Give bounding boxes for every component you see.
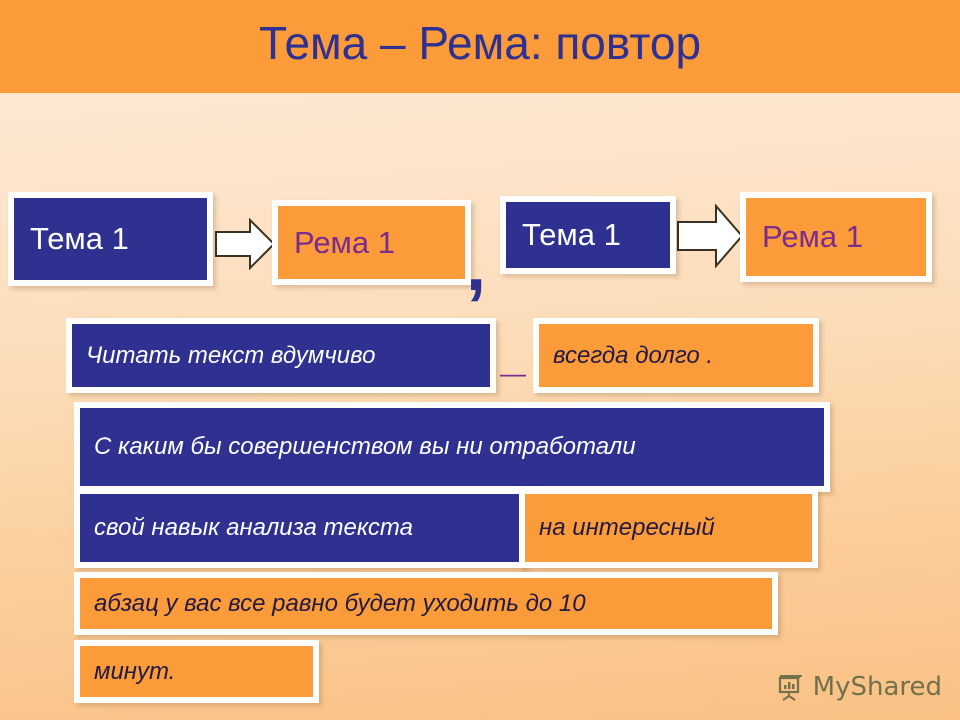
example-box-4-label: свой навык анализа текста: [80, 514, 519, 542]
theme-box-2-label: Тема 1: [506, 217, 670, 253]
example-box-5-label: на интересный: [525, 514, 812, 542]
comma-separator: ,: [466, 230, 486, 302]
header-divider: [0, 93, 960, 97]
rheme-box-1-label: Рема 1: [278, 225, 465, 261]
example-box-2-label: всегда долго .: [539, 342, 813, 370]
right-arrow-icon-1: [214, 218, 276, 270]
example-box-5[interactable]: на интересный: [519, 488, 818, 568]
rheme-box-1[interactable]: Рема 1: [272, 200, 471, 285]
theme-box-1[interactable]: Тема 1: [8, 192, 213, 286]
watermark: MyShared: [776, 672, 942, 702]
em-dash-separator: —: [500, 360, 526, 386]
page-title: Тема – Рема: повтор: [0, 16, 960, 70]
theme-box-2[interactable]: Тема 1: [500, 196, 676, 274]
rheme-box-2[interactable]: Рема 1: [740, 192, 932, 282]
example-box-6-label: абзац у вас все равно будет уходить до 1…: [80, 590, 772, 618]
example-box-1-label: Читать текст вдумчиво: [72, 342, 490, 370]
example-box-1[interactable]: Читать текст вдумчиво: [66, 318, 496, 393]
rheme-box-2-label: Рема 1: [746, 219, 926, 255]
slide-canvas: Тема – Рема: повтор Тема 1 Рема 1 , Тема…: [0, 0, 960, 720]
presentation-chart-icon: [776, 672, 806, 702]
example-box-4[interactable]: свой навык анализа текста: [74, 488, 525, 568]
example-box-7-label: минут.: [80, 658, 313, 686]
example-box-7[interactable]: минут.: [74, 640, 319, 703]
theme-box-1-label: Тема 1: [14, 221, 207, 257]
right-arrow-icon-2: [676, 204, 744, 268]
example-box-6[interactable]: абзац у вас все равно будет уходить до 1…: [74, 572, 778, 635]
example-box-2[interactable]: всегда долго .: [533, 318, 819, 393]
example-box-3-label: С каким бы совершенством вы ни отработал…: [80, 433, 824, 461]
watermark-label: MyShared: [813, 672, 942, 702]
example-box-3[interactable]: С каким бы совершенством вы ни отработал…: [74, 402, 830, 492]
